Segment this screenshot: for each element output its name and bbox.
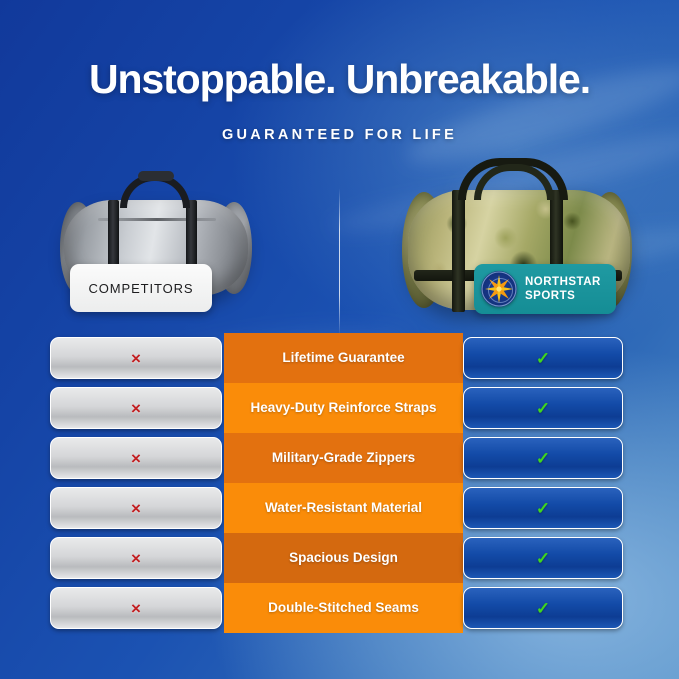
- brand-cell: ✓: [463, 487, 623, 529]
- page-subtitle: GUARANTEED FOR LIFE: [0, 127, 679, 143]
- cross-icon: ×: [131, 450, 141, 467]
- cross-icon: ×: [131, 400, 141, 417]
- competitor-cell: ×: [50, 437, 222, 479]
- table-row: × Heavy-Duty Reinforce Straps ✓: [0, 383, 679, 433]
- table-row: × Water-Resistant Material ✓: [0, 483, 679, 533]
- competitor-cell: ×: [50, 587, 222, 629]
- page-title: Unstoppable. Unbreakable.: [0, 57, 679, 101]
- table-row: × Spacious Design ✓: [0, 533, 679, 583]
- feature-label-cell: Lifetime Guarantee: [224, 333, 463, 383]
- table-row: × Lifetime Guarantee ✓: [0, 333, 679, 383]
- feature-label-cell: Military-Grade Zippers: [224, 433, 463, 483]
- brand-name-line1: NORTHSTAR: [525, 276, 601, 288]
- competitor-cell: ×: [50, 537, 222, 579]
- brand-cell: ✓: [463, 587, 623, 629]
- northstar-brand-chip: NORTHSTAR SPORTS: [474, 264, 616, 314]
- brand-cell: ✓: [463, 437, 623, 479]
- check-icon: ✓: [536, 500, 550, 517]
- brand-name-text: NORTHSTAR SPORTS: [525, 275, 601, 304]
- check-icon: ✓: [536, 350, 550, 367]
- feature-label-cell: Spacious Design: [224, 533, 463, 583]
- competitor-cell: ×: [50, 487, 222, 529]
- bag-handle-grip: [138, 171, 174, 181]
- competitors-label-text: COMPETITORS: [88, 281, 193, 296]
- cross-icon: ×: [131, 350, 141, 367]
- check-icon: ✓: [536, 550, 550, 567]
- cross-icon: ×: [131, 600, 141, 617]
- feature-label-cell: Water-Resistant Material: [224, 483, 463, 533]
- compass-star-logo-icon: [481, 271, 517, 307]
- brand-cell: ✓: [463, 337, 623, 379]
- check-icon: ✓: [536, 450, 550, 467]
- table-row: × Double-Stitched Seams ✓: [0, 583, 679, 633]
- check-icon: ✓: [536, 400, 550, 417]
- feature-label-cell: Heavy-Duty Reinforce Straps: [224, 383, 463, 433]
- competitors-label-chip: COMPETITORS: [70, 264, 212, 312]
- competitor-cell: ×: [50, 337, 222, 379]
- cross-icon: ×: [131, 550, 141, 567]
- feature-label-cell: Double-Stitched Seams: [224, 583, 463, 633]
- cross-icon: ×: [131, 500, 141, 517]
- competitor-cell: ×: [50, 387, 222, 429]
- column-divider: [339, 188, 340, 336]
- table-row: × Military-Grade Zippers ✓: [0, 433, 679, 483]
- brand-name-line2: SPORTS: [525, 290, 575, 302]
- check-icon: ✓: [536, 600, 550, 617]
- brand-cell: ✓: [463, 537, 623, 579]
- bag-strap: [452, 190, 465, 312]
- brand-cell: ✓: [463, 387, 623, 429]
- promo-graphic: Unstoppable. Unbreakable. GUARANTEED FOR…: [0, 0, 679, 679]
- comparison-table: × Lifetime Guarantee ✓ × Heavy-Duty Rein…: [0, 333, 679, 633]
